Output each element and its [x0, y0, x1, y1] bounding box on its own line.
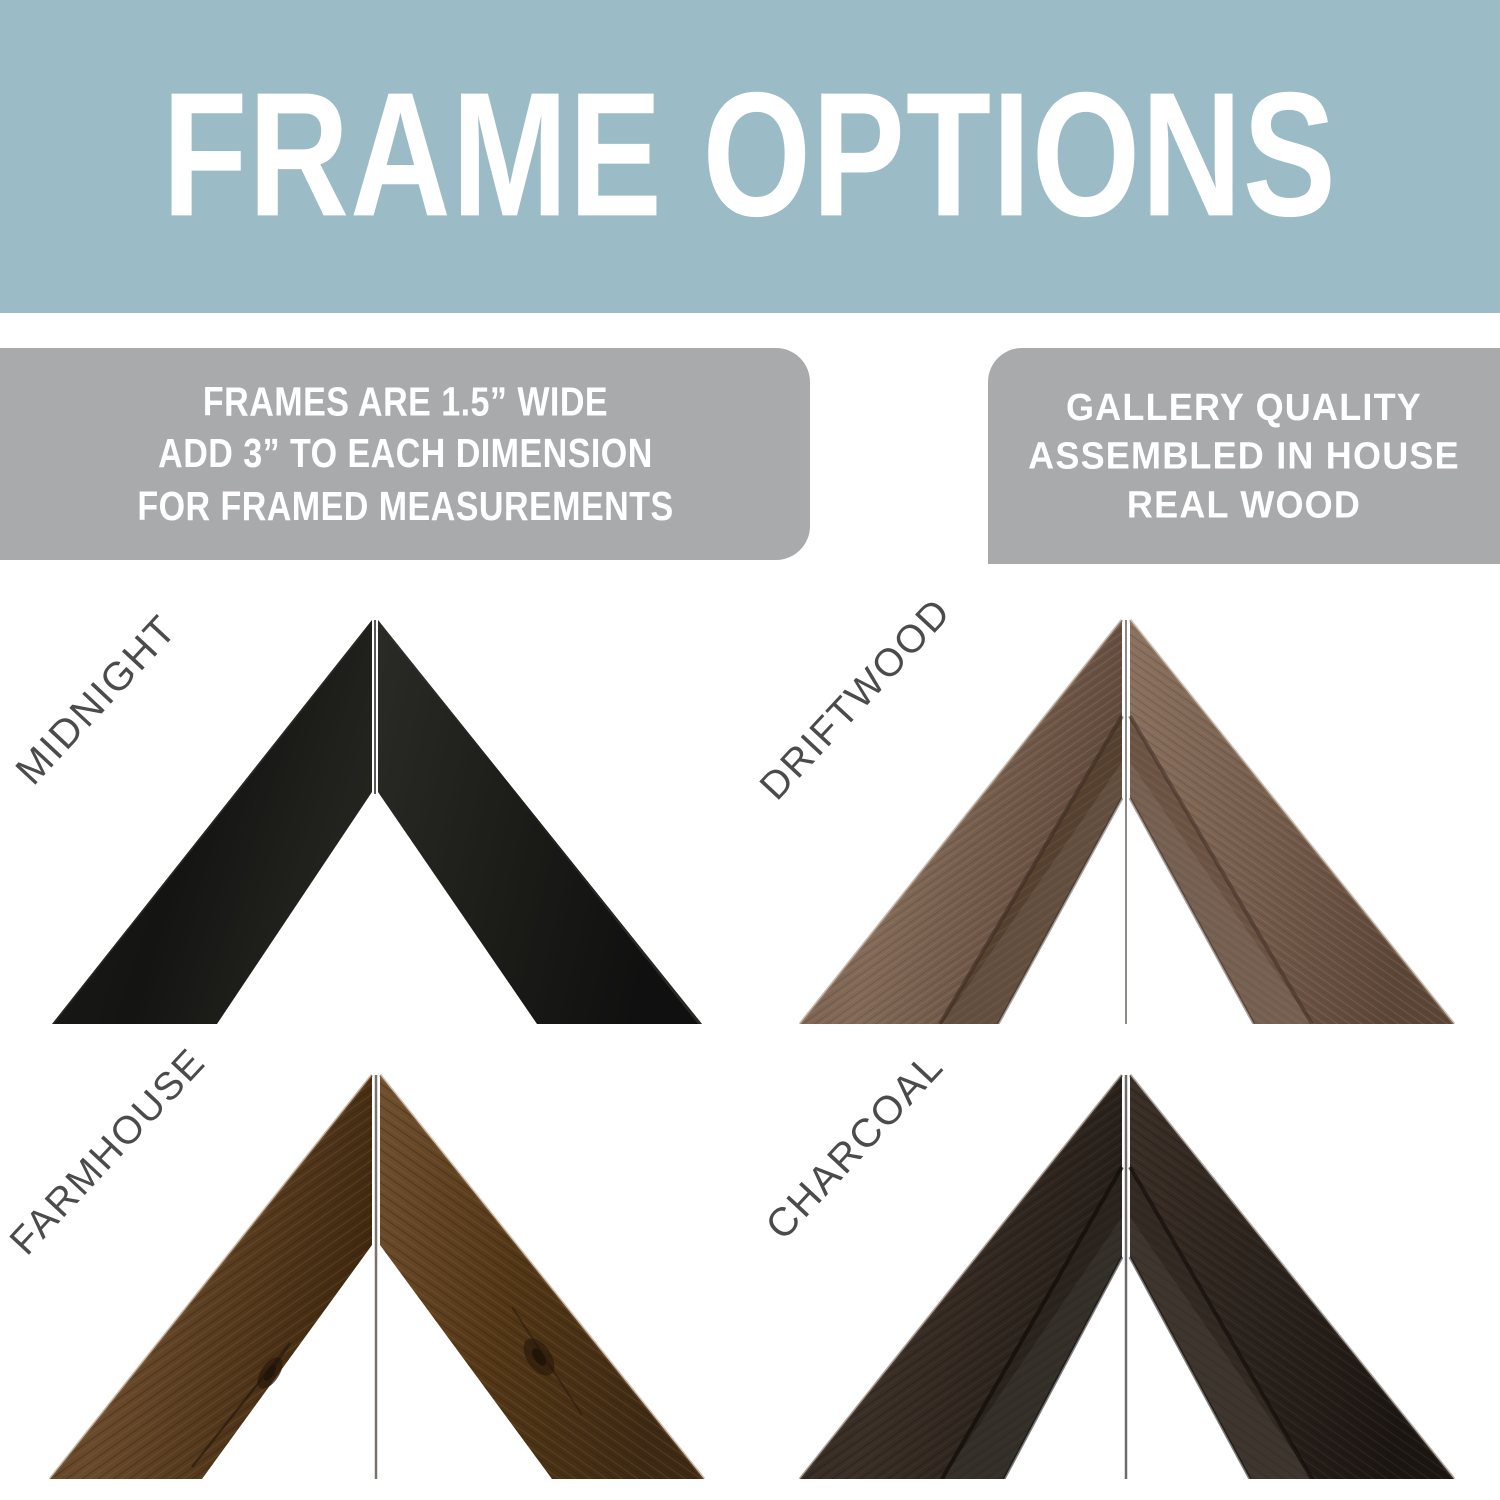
info-line-1: FRAMES ARE 1.5” WIDE: [202, 376, 607, 428]
info-line-3: REAL WOOD: [1127, 480, 1361, 529]
info-bar-quality: GALLERY QUALITY ASSEMBLED IN HOUSE REAL …: [988, 348, 1500, 564]
info-bar-measurements: FRAMES ARE 1.5” WIDE ADD 3” TO EACH DIME…: [0, 348, 810, 560]
info-bar-measurements-lines: FRAMES ARE 1.5” WIDE ADD 3” TO EACH DIME…: [137, 376, 673, 532]
frame-options-grid: MIDNIGHT: [0, 590, 1500, 1500]
frame-option-farmhouse[interactable]: FARMHOUSE: [0, 1045, 750, 1500]
info-line-1: GALLERY QUALITY: [1066, 383, 1422, 432]
frame-option-charcoal[interactable]: CHARCOAL: [750, 1045, 1500, 1500]
header-banner: FRAME OPTIONS: [0, 0, 1500, 313]
frame-option-driftwood[interactable]: DRIFTWOOD: [750, 590, 1500, 1045]
page-title: FRAME OPTIONS: [163, 65, 1338, 242]
info-bar-quality-lines: GALLERY QUALITY ASSEMBLED IN HOUSE REAL …: [1028, 383, 1460, 530]
frame-option-midnight[interactable]: MIDNIGHT: [0, 590, 750, 1045]
info-line-3: FOR FRAMED MEASUREMENTS: [137, 480, 673, 532]
info-line-2: ADD 3” TO EACH DIMENSION: [158, 428, 653, 480]
info-line-2: ASSEMBLED IN HOUSE: [1028, 432, 1460, 481]
